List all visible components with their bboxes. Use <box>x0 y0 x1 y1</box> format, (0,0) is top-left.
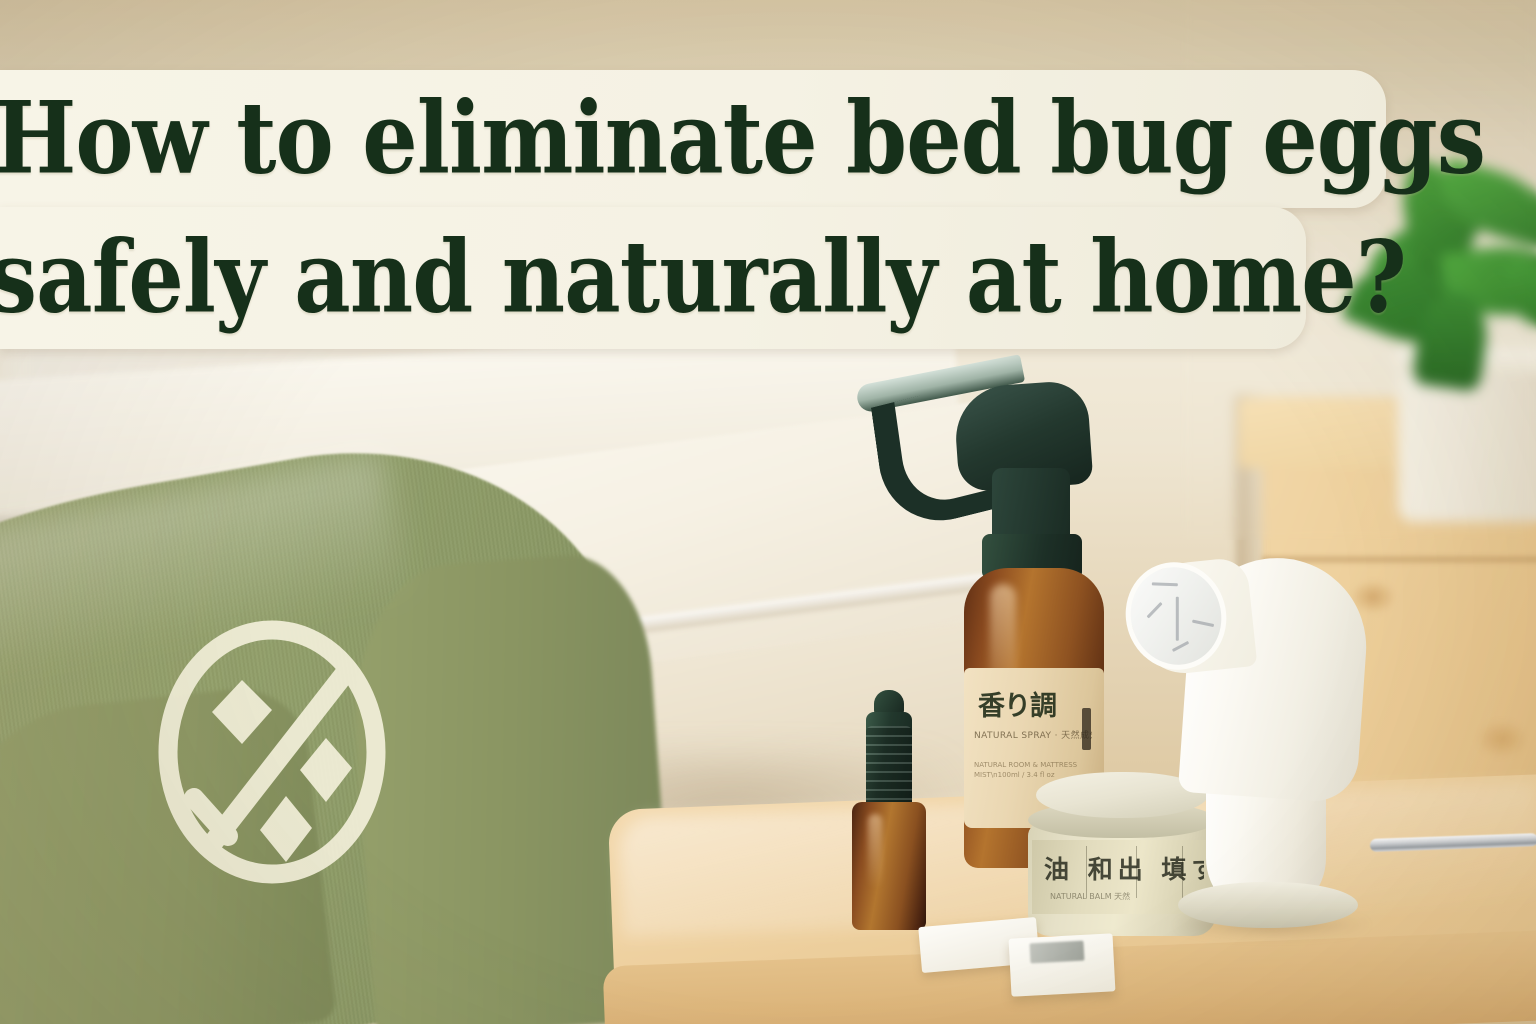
sachet-window <box>1030 941 1085 964</box>
title-text-line-1: How to eliminate bed bug eggs <box>0 90 1485 189</box>
dropper-bottle-body <box>852 802 926 930</box>
title-banner-line-1: How to eliminate bed bug eggs <box>0 70 1386 208</box>
title-text-line-2: safely and naturally at home? <box>0 229 1406 328</box>
spray-label-barcode <box>1082 708 1091 750</box>
no-bed-bug-eggs-badge-icon <box>150 612 394 892</box>
steamer-vent-mark <box>1192 620 1214 628</box>
steamer-vent-mark <box>1147 602 1163 618</box>
dropper-bottle <box>840 690 940 935</box>
steamer-vent-mark <box>1172 641 1189 652</box>
hero-image-canvas: 香り調 NATURAL SPRAY · 天然成分 · BED PROTECT N… <box>0 0 1536 1024</box>
title-banner-line-2: safely and naturally at home? <box>0 207 1306 349</box>
steamer-base <box>1178 882 1358 928</box>
dropper-cap-ribs <box>866 726 912 808</box>
wood-knot <box>1476 720 1528 758</box>
handheld-steamer <box>1120 552 1380 944</box>
spray-label-subtitle: NATURAL SPRAY · 天然成分 · BED PROTECT <box>974 730 1092 742</box>
steamer-vent-mark <box>1152 582 1178 586</box>
steamer-vent-mark <box>1176 597 1179 641</box>
dropper-bottle-highlight <box>868 814 882 888</box>
spray-label-title: 香り調 <box>978 690 1090 724</box>
title-overlay: How to eliminate bed bug eggs safely and… <box>0 70 1536 349</box>
